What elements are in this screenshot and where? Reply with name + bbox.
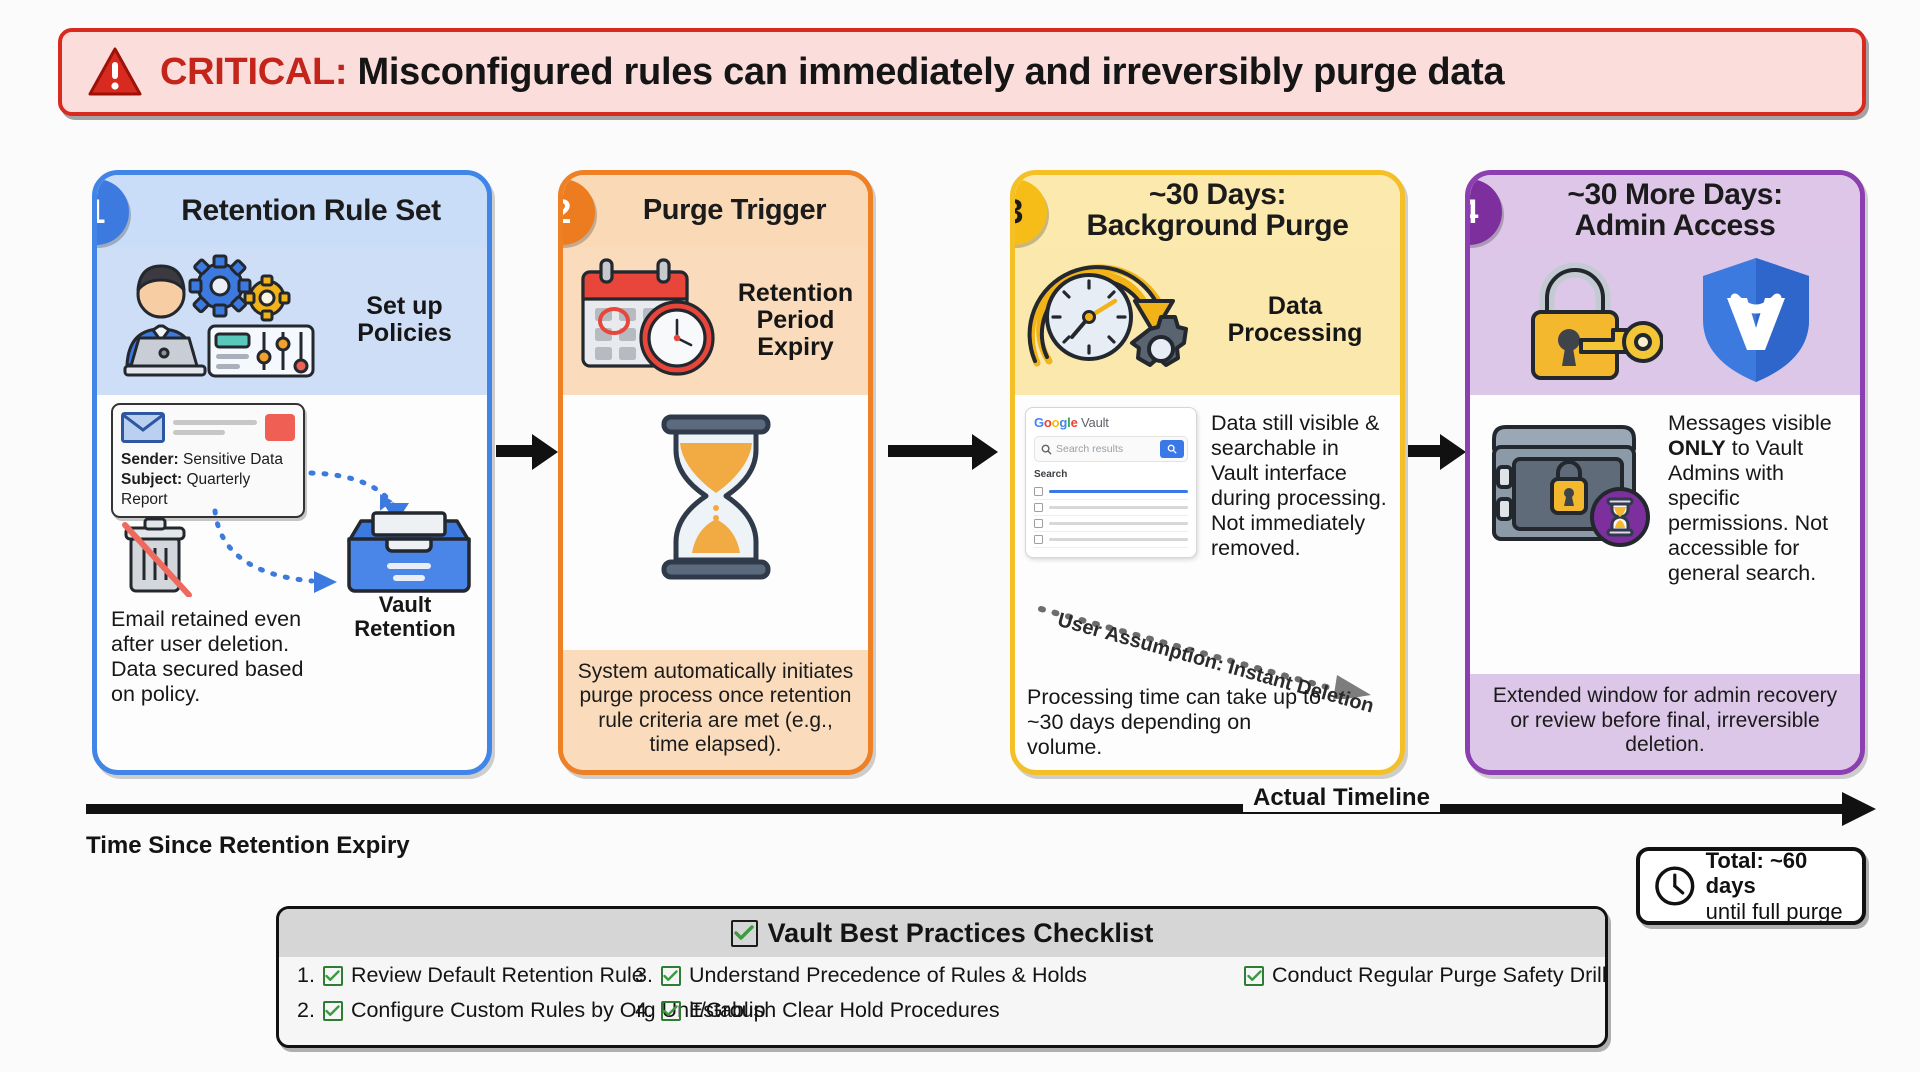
step-card-retention-rule-set[interactable]: 1 Retention Rule Set bbox=[92, 170, 492, 775]
assumption-label-wrap: User Assumption: Instant Deletion bbox=[1033, 591, 1385, 681]
checklist-items: 1. Review Default Retention Rule 2. Conf… bbox=[279, 957, 1605, 965]
calendar-with-clock-icon bbox=[575, 254, 725, 386]
banner-critical-prefix: CRITICAL: bbox=[160, 51, 347, 93]
best-practices-checklist: Vault Best Practices Checklist 1. Review… bbox=[276, 906, 1608, 1048]
card-header-1: Retention Rule Set bbox=[97, 175, 487, 247]
checkbox-checked-icon bbox=[731, 920, 758, 947]
card-footer-note-3: Processing time can take up to ~30 days … bbox=[1027, 685, 1327, 760]
safe-with-hourglass-icon bbox=[1484, 411, 1664, 551]
connector-arrow-3 bbox=[1408, 432, 1466, 472]
total-duration-line1: Total: ~60 days bbox=[1706, 848, 1862, 899]
card-title-2: Purge Trigger bbox=[643, 196, 826, 226]
card-footer-2: System automatically initiates purge pro… bbox=[563, 650, 868, 770]
checklist-item-3[interactable]: 3. Understand Precedence of Rules & Hold… bbox=[635, 963, 1087, 988]
row-checkbox[interactable] bbox=[1034, 535, 1043, 544]
card-sub-label-3: DataProcessing bbox=[1202, 293, 1388, 347]
vault-retention-label: VaultRetention bbox=[335, 593, 475, 641]
checkbox-checked-icon[interactable] bbox=[1244, 966, 1264, 986]
step-card-purge-trigger[interactable]: 2 Purge Trigger bbox=[558, 170, 873, 775]
google-vault-mock-window[interactable]: Google Vault Search results S bbox=[1025, 407, 1197, 558]
timeline-arrow bbox=[86, 790, 1876, 828]
card-sub-label-2: RetentionPeriodExpiry bbox=[735, 280, 856, 361]
timeline-right-label: Actual Timeline bbox=[1243, 784, 1440, 812]
warning-triangle-icon bbox=[88, 47, 142, 97]
card-sub-label-1: Set upPolicies bbox=[334, 293, 475, 347]
card-footer-4: Extended window for admin recovery or re… bbox=[1470, 674, 1860, 770]
vault-search-section-label: Search bbox=[1034, 469, 1188, 480]
checklist-header: Vault Best Practices Checklist bbox=[279, 909, 1605, 957]
step-card-background-purge[interactable]: 3 ~30 Days:Background Purge bbox=[1010, 170, 1405, 775]
vault-result-row[interactable] bbox=[1034, 532, 1188, 548]
row-checkbox[interactable] bbox=[1034, 519, 1043, 528]
vault-search-button[interactable] bbox=[1160, 440, 1184, 458]
padlock-with-key-icon bbox=[1515, 256, 1663, 384]
checkbox-checked-icon[interactable] bbox=[323, 966, 343, 986]
vault-result-row[interactable] bbox=[1034, 500, 1188, 516]
checkbox-checked-icon[interactable] bbox=[661, 966, 681, 986]
row-checkbox[interactable] bbox=[1034, 503, 1043, 512]
vault-file-tray-icon bbox=[343, 505, 475, 601]
checklist-item-1[interactable]: 1. Review Default Retention Rule bbox=[297, 963, 644, 988]
card-title-4: ~30 More Days:Admin Access bbox=[1567, 180, 1782, 242]
critical-warning-banner: CRITICAL: Misconfigured rules can immedi… bbox=[58, 28, 1866, 116]
card-body-3: Google Vault Search results S bbox=[1015, 395, 1400, 770]
card-title-1: Retention Rule Set bbox=[181, 196, 441, 227]
admin-at-laptop-with-gears-icon bbox=[109, 250, 324, 390]
total-duration-box: Total: ~60 days until full purge bbox=[1636, 847, 1866, 925]
banner-text: CRITICAL: Misconfigured rules can immedi… bbox=[160, 51, 1504, 94]
hourglass-icon bbox=[650, 413, 782, 581]
card-note-1: Email retained even after user deletion.… bbox=[111, 607, 326, 707]
google-vault-logo: Google Vault bbox=[1034, 415, 1188, 430]
connector-arrow-2 bbox=[888, 432, 998, 472]
vault-result-row[interactable] bbox=[1034, 516, 1188, 532]
vault-result-row[interactable] bbox=[1034, 484, 1188, 500]
clock-with-gear-processing-icon bbox=[1027, 251, 1192, 389]
card-hero-4 bbox=[1470, 247, 1860, 395]
card-header-4: ~30 More Days:Admin Access bbox=[1470, 175, 1860, 247]
checklist-item-label: Establish Clear Hold Procedures bbox=[689, 998, 1000, 1023]
checklist-title: Vault Best Practices Checklist bbox=[768, 918, 1154, 949]
checklist-item-label: Review Default Retention Rule bbox=[351, 963, 644, 988]
card-body-1: Sender: Sensitive Data Subject: Quarterl… bbox=[97, 395, 487, 770]
card-note-3: Data still visible & searchable in Vault… bbox=[1211, 411, 1387, 561]
clock-icon bbox=[1654, 865, 1696, 907]
vault-shield-icon bbox=[1697, 254, 1815, 386]
vault-search-input[interactable]: Search results bbox=[1034, 436, 1188, 462]
connector-arrow-1 bbox=[496, 432, 558, 472]
total-duration-line2: until full purge bbox=[1706, 899, 1862, 924]
vault-search-placeholder: Search results bbox=[1056, 443, 1156, 455]
checklist-item-5[interactable]: Conduct Regular Purge Safety Drills bbox=[1244, 963, 1608, 988]
timeline-left-label: Time Since Retention Expiry bbox=[86, 832, 410, 860]
card-note-4: Messages visible ONLY to Vault Admins wi… bbox=[1668, 411, 1844, 586]
banner-message: Misconfigured rules can immediately and … bbox=[347, 51, 1504, 93]
search-icon bbox=[1041, 444, 1052, 455]
checklist-item-4[interactable]: 4. Establish Clear Hold Procedures bbox=[635, 998, 1000, 1023]
checklist-item-label: Conduct Regular Purge Safety Drills bbox=[1272, 963, 1608, 988]
card-header-2: Purge Trigger bbox=[563, 175, 868, 247]
card-hero-1: Set upPolicies bbox=[97, 247, 487, 395]
card-header-3: ~30 Days:Background Purge bbox=[1015, 175, 1400, 247]
card-title-3: ~30 Days:Background Purge bbox=[1087, 180, 1349, 242]
trash-can-crossed-out-icon bbox=[121, 515, 197, 597]
checkbox-checked-icon[interactable] bbox=[661, 1001, 681, 1021]
row-checkbox[interactable] bbox=[1034, 487, 1043, 496]
card-hero-3: DataProcessing bbox=[1015, 247, 1400, 395]
step-card-admin-access[interactable]: 4 ~30 More Days:Admin Access bbox=[1465, 170, 1865, 775]
checklist-item-label: Understand Precedence of Rules & Holds bbox=[689, 963, 1087, 988]
card-hero-2: RetentionPeriodExpiry bbox=[563, 247, 868, 395]
infographic-canvas: CRITICAL: Misconfigured rules can immedi… bbox=[0, 0, 1920, 1072]
search-icon bbox=[1167, 444, 1177, 454]
checkbox-checked-icon[interactable] bbox=[323, 1001, 343, 1021]
